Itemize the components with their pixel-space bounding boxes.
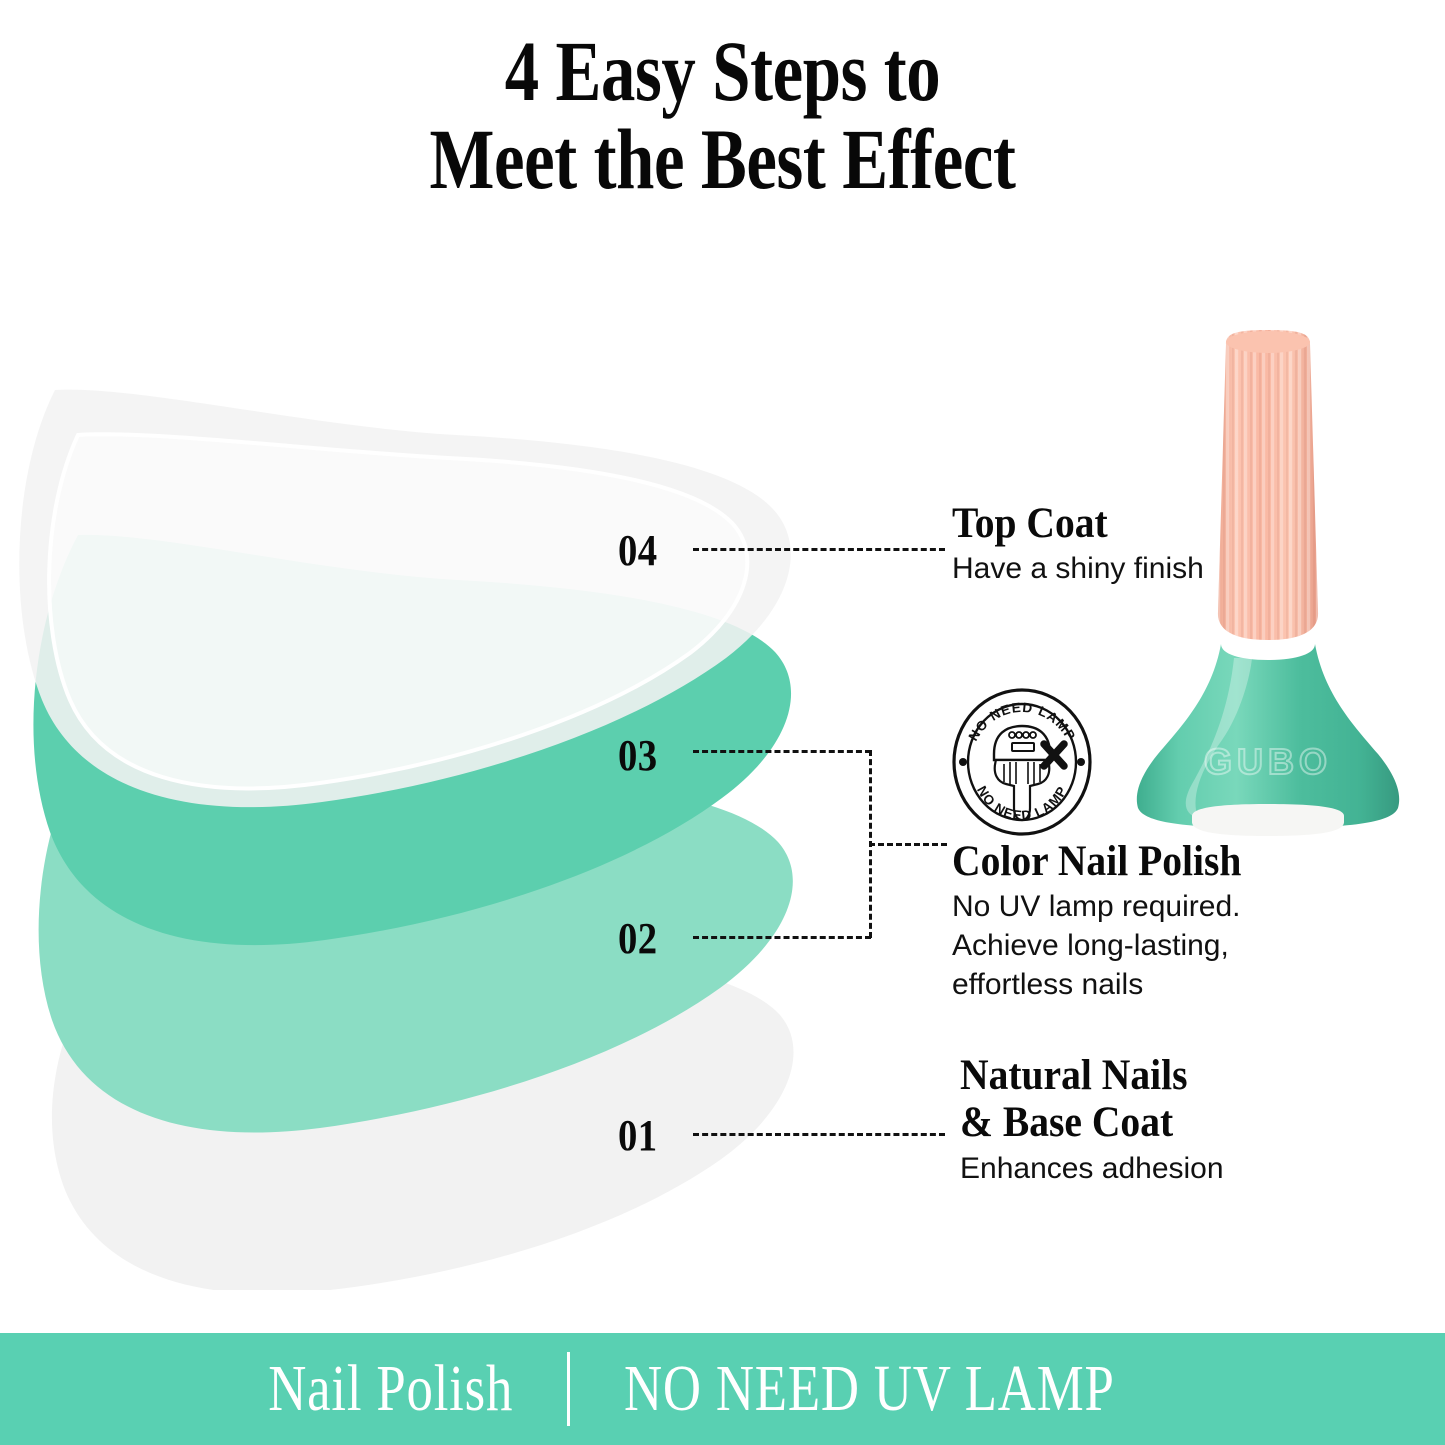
step-number-03: 03 — [618, 730, 658, 781]
step-number-02: 02 — [618, 913, 658, 964]
connector-bracket-02-03 — [693, 750, 945, 938]
step-description-line-2: Achieve long-lasting, — [952, 928, 1267, 963]
connector-line-01 — [693, 1133, 945, 1136]
no-need-lamp-badge-icon: NO NEED LAMP NO NEED LAMP — [952, 688, 1092, 836]
stamp-dot-left — [959, 758, 967, 766]
step-description-natural-nails: Enhances adhesion — [960, 1151, 1224, 1186]
connector-line-04 — [693, 548, 945, 551]
bottle-cap-ribs — [1218, 330, 1318, 640]
step-number-01: 01 — [618, 1110, 658, 1161]
step-text-natural-nails: Natural Nails & Base Coat Enhances adhes… — [960, 1052, 1224, 1186]
step-text-color-nail-polish: Color Nail Polish No UV lamp required. A… — [952, 838, 1267, 1003]
title-line-2: Meet the Best Effect — [145, 116, 1301, 204]
banner-text-right: NO NEED UV LAMP — [616, 1351, 1115, 1427]
connector-line-stub — [869, 843, 947, 846]
step-description-line-1: No UV lamp required. — [952, 889, 1267, 924]
infographic-page: 4 Easy Steps to Meet the Best Effect 04 … — [0, 0, 1445, 1445]
step-heading-natural-nails-line-2: & Base Coat — [960, 1099, 1202, 1146]
bottom-banner: Nail Polish NO NEED UV LAMP — [0, 1333, 1445, 1445]
title-line-1: 4 Easy Steps to — [145, 28, 1301, 116]
step-heading-natural-nails-line-1: Natural Nails — [960, 1052, 1202, 1099]
bottle-brand-emboss: GUBO — [1204, 741, 1332, 782]
page-title: 4 Easy Steps to Meet the Best Effect — [145, 28, 1301, 203]
step-number-04: 04 — [618, 525, 658, 576]
bottle-body — [1137, 644, 1399, 828]
connector-line-02 — [693, 936, 871, 939]
banner-divider — [567, 1352, 570, 1426]
connector-line-03 — [693, 750, 871, 753]
bottle-base — [1192, 804, 1344, 836]
stamp-dot-right — [1077, 758, 1085, 766]
step-heading-color-nail-polish: Color Nail Polish — [952, 838, 1241, 885]
nail-polish-bottle-image: GUBO — [1118, 322, 1418, 842]
banner-text-left: Nail Polish — [268, 1351, 521, 1427]
step-description-line-3: effortless nails — [952, 967, 1267, 1002]
